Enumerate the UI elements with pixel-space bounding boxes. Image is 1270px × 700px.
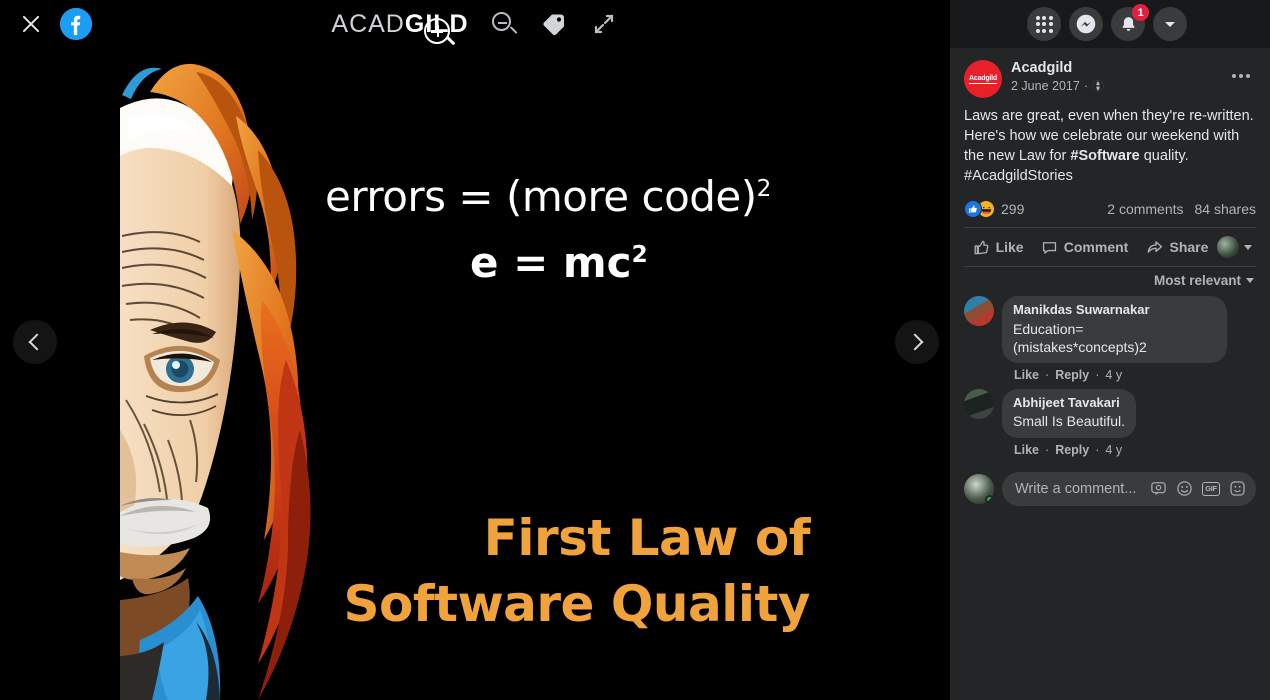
post-actions: Like Comment Share [964, 228, 1256, 266]
chevron-right-icon [907, 334, 924, 351]
comment-action-sep-2: · [1095, 368, 1099, 382]
account-button[interactable] [1153, 7, 1187, 41]
messenger-button[interactable] [1069, 7, 1103, 41]
comment-like-link[interactable]: Like [1014, 368, 1039, 382]
current-user-avatar[interactable] [964, 474, 994, 504]
comment-action-sep-2: · [1095, 443, 1099, 457]
poster-headline-line1: First Law of [484, 509, 810, 567]
poster-headline: First Law of Software Quality [330, 505, 810, 637]
zoom-in-cursor-icon [424, 18, 450, 44]
next-photo-button[interactable] [895, 320, 939, 364]
notifications-button[interactable]: 1 [1111, 7, 1145, 41]
reaction-icons [964, 200, 995, 218]
comment-bubble-icon [1041, 239, 1058, 256]
chevron-down-icon [1162, 16, 1178, 32]
user-avatar-small [1217, 236, 1239, 258]
caret-down-icon [1244, 245, 1252, 250]
tag-photo-icon[interactable] [539, 9, 569, 39]
share-count[interactable]: 84 shares [1195, 201, 1256, 217]
messenger-icon [1076, 14, 1096, 34]
share-button[interactable]: Share [1137, 231, 1217, 263]
comment-count[interactable]: 2 comments [1107, 201, 1183, 217]
globe-icon [1092, 80, 1104, 92]
notification-badge: 1 [1132, 4, 1149, 21]
comment-action-sep-1: · [1045, 443, 1049, 457]
avatar-logo-text: Acadgild [969, 75, 997, 84]
fullscreen-expand-icon[interactable] [589, 9, 619, 39]
comment-item: Abhijeet Tavakari Small Is Beautiful. Li… [964, 389, 1256, 456]
comment-time: 4 y [1105, 443, 1122, 457]
comment-reply-link[interactable]: Reply [1055, 443, 1089, 457]
photo-viewer: errors = (more code)2 e = mc2 First Law … [0, 0, 950, 700]
comment-sticker-icon[interactable] [1150, 480, 1167, 497]
post-body: Laws are great, even when they're re-wri… [964, 107, 1256, 186]
comment-sort-selector[interactable]: Most relevant [964, 267, 1256, 296]
post-hashtag-software[interactable]: #Software [1070, 148, 1139, 164]
comment-input[interactable]: Write a comment... GIF [1002, 472, 1256, 506]
emoji-icon[interactable] [1176, 480, 1193, 497]
post-timestamp[interactable]: 2 June 2017 [1011, 79, 1080, 93]
meta-separator: · [1084, 79, 1088, 93]
comment-reply-link[interactable]: Reply [1055, 368, 1089, 382]
post-meta: 2 June 2017 · [1011, 79, 1104, 93]
comment-action-sep-1: · [1045, 368, 1049, 382]
online-status-dot [985, 495, 994, 504]
share-arrow-icon [1146, 238, 1164, 256]
like-button[interactable]: Like [964, 232, 1032, 263]
comment-composer: Write a comment... GIF [964, 464, 1256, 506]
gif-label: GIF [1205, 484, 1217, 493]
comment-list: Manikdas Suwarnakar Education=(mistakes*… [964, 296, 1256, 456]
comment-text: Small Is Beautiful. [1013, 412, 1125, 430]
comment-button[interactable]: Comment [1032, 232, 1137, 263]
comment-actions: Like · Reply · 4 y [1002, 363, 1227, 382]
comment-input-placeholder: Write a comment... [1015, 481, 1141, 497]
comment-text: Education=(mistakes*concepts)2 [1013, 320, 1216, 356]
viewer-topbar: ACADGILD [0, 0, 950, 48]
comment-actions: Like · Reply · 4 y [1002, 438, 1136, 457]
post-stats: 299 2 comments 84 shares [964, 189, 1256, 227]
comment-bubble: Abhijeet Tavakari Small Is Beautiful. [1002, 389, 1136, 437]
page-avatar[interactable]: Acadgild [964, 60, 1002, 98]
stats-right: 2 comments 84 shares [1107, 201, 1256, 217]
poster-image[interactable]: errors = (more code)2 e = mc2 First Law … [0, 0, 950, 700]
comment-item: Manikdas Suwarnakar Education=(mistakes*… [964, 296, 1256, 382]
post-header: Acadgild Acadgild 2 June 2017 · [964, 60, 1256, 98]
post-hashtag-stories[interactable]: #AcadgildStories [964, 168, 1073, 184]
poster-equation-1: errors = (more code)2 [325, 172, 795, 221]
commenter-avatar[interactable] [964, 296, 994, 326]
comment-bubble: Manikdas Suwarnakar Education=(mistakes*… [1002, 296, 1227, 363]
poster-headline-line2: Software Quality [330, 571, 810, 637]
sidebar-topbar: 1 [950, 0, 1270, 48]
comment-button-label: Comment [1064, 239, 1129, 255]
viewer-tools: ACADGILD [0, 0, 950, 48]
post-sidebar: 1 Acadgild Acadgild 2 June 2017 · [950, 0, 1270, 700]
zoom-out-icon[interactable] [489, 9, 519, 39]
reactions-summary[interactable]: 299 [964, 200, 1024, 218]
avatar-sticker-icon[interactable] [1229, 480, 1246, 497]
gif-icon[interactable]: GIF [1202, 482, 1220, 496]
poster-equation-2: e = mc2 [470, 238, 648, 287]
post-body-part2: quality. [1140, 148, 1189, 164]
sort-caret-down-icon [1246, 278, 1254, 283]
commenter-name[interactable]: Abhijeet Tavakari [1013, 395, 1125, 411]
share-audience-selector[interactable] [1217, 236, 1256, 258]
like-button-label: Like [996, 239, 1024, 255]
comment-like-link[interactable]: Like [1014, 443, 1039, 457]
reaction-count: 299 [1001, 201, 1024, 217]
comment-sort-label: Most relevant [1154, 273, 1241, 288]
chevron-left-icon [29, 334, 46, 351]
close-icon[interactable] [16, 9, 46, 39]
comment-time: 4 y [1105, 368, 1122, 382]
photo-viewer-page: errors = (more code)2 e = mc2 First Law … [0, 0, 1270, 700]
prev-photo-button[interactable] [13, 320, 57, 364]
menu-grid-button[interactable] [1027, 7, 1061, 41]
facebook-logo-icon[interactable] [60, 8, 92, 40]
photo-title: ACADGILD [331, 10, 468, 39]
commenter-name[interactable]: Manikdas Suwarnakar [1013, 302, 1216, 318]
grid-icon [1036, 16, 1053, 33]
share-button-label: Share [1170, 239, 1209, 255]
thumbs-up-icon [973, 239, 990, 256]
post-container: Acadgild Acadgild 2 June 2017 · [950, 48, 1270, 506]
post-author-name[interactable]: Acadgild [1011, 60, 1104, 77]
commenter-avatar[interactable] [964, 389, 994, 419]
post-more-options-button[interactable] [1226, 64, 1256, 88]
brand-prefix: ACAD [331, 10, 404, 38]
